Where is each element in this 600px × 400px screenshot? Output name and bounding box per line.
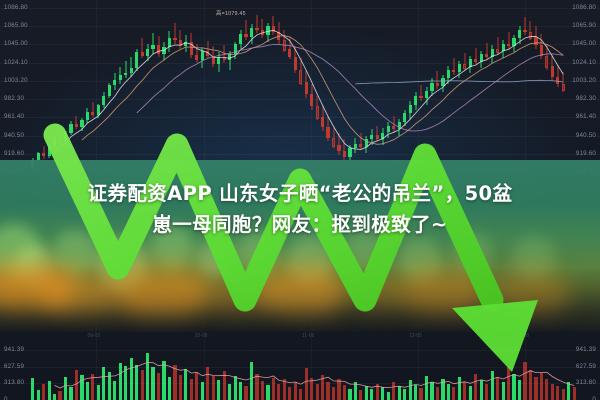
share-card: 1086.801065.901045.001024.101003.20982.3…	[0, 0, 600, 400]
headline: 证券配资APP 山东女子晒“老公的吊兰”，50盆 崽一母同胞？网友：抠到极致了~	[0, 178, 600, 240]
volume-grid-line	[0, 383, 600, 384]
headline-line-2: 崽一母同胞？网友：抠到极致了~	[0, 209, 600, 240]
volume-grid-line	[0, 367, 600, 368]
volume-grid-line	[0, 350, 600, 351]
headline-line-1: 证券配资APP 山东女子晒“老公的吊兰”，50盆	[88, 182, 513, 205]
